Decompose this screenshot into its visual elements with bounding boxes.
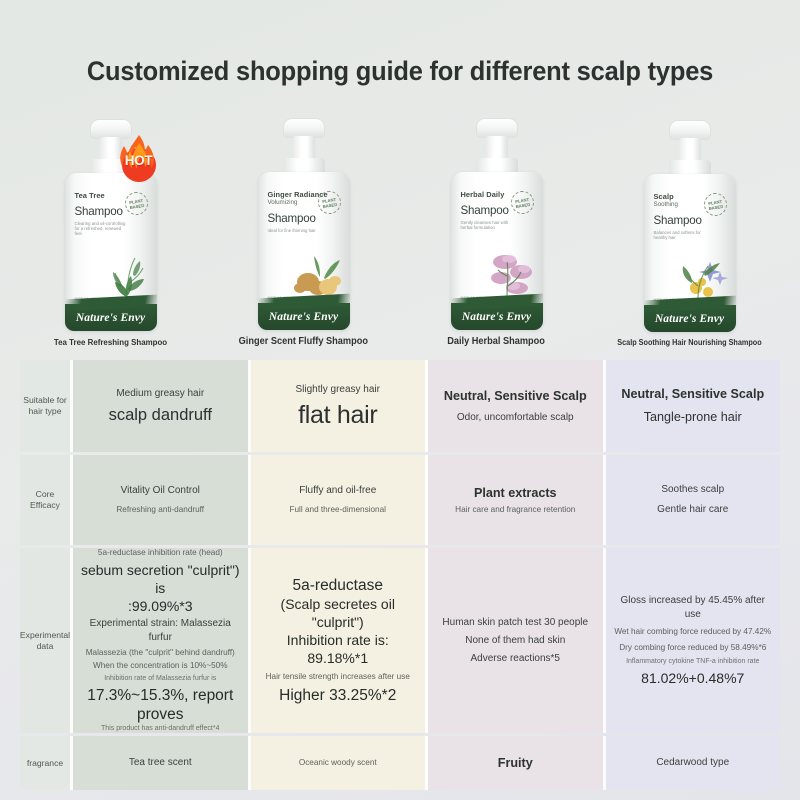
bottle-image-herbal: Herbal Daily Shampoo Gently cleanses hai… — [449, 118, 545, 330]
pump-head-icon — [476, 118, 518, 138]
cell-secondary: Gentle hair care — [657, 503, 728, 517]
cell-hair-type-col1: Medium greasy hair scalp dandruff — [73, 360, 251, 452]
cell-core-efficacy-col3: Plant extracts Hair care and fragrance r… — [428, 455, 606, 545]
bottle-brand-band: Nature's Envy — [65, 304, 157, 331]
exp-line: (Scalp secretes oil "culprit") — [258, 595, 419, 631]
bottle-tagline: Ideal for fine thinning hair — [268, 228, 320, 233]
exp-line: Dry combing force reduced by 58.49%*6 — [619, 642, 766, 654]
cell-primary: Fluffy and oil-free — [299, 484, 376, 498]
product-caption-tea-tree: Tea Tree Refreshing Shampoo — [54, 337, 167, 347]
exp-line: Adverse reactions*5 — [471, 652, 561, 666]
chamomile-flower-illustration-icon — [676, 244, 732, 302]
cell-secondary: Tangle-prone hair — [644, 409, 742, 426]
product-card-tea-tree[interactable]: Tea Tree Shampoo Clearing and oil-contro… — [14, 99, 207, 347]
cell-primary: Neutral, Sensitive Scalp — [444, 388, 587, 405]
table-row-core-efficacy: Core Efficacy Vitality Oil Control Refre… — [20, 455, 780, 548]
cell-primary: Cedarwood type — [656, 756, 729, 770]
row-label-core-efficacy: Core Efficacy — [20, 455, 73, 545]
product-card-herbal[interactable]: Herbal Daily Shampoo Gently cleanses hai… — [400, 99, 593, 347]
bottle-body: Scalp Soothing Shampoo Balances and soft… — [644, 174, 736, 332]
exp-line: Inhibition rate is: 89.18%*1 — [258, 631, 419, 667]
product-gallery: Tea Tree Shampoo Clearing and oil-contro… — [0, 99, 800, 347]
exp-line: 81.02%+0.48%7 — [641, 669, 744, 687]
bottle-body: Ginger Radiance Volumizing Shampoo Ideal… — [258, 172, 350, 330]
bottle-brand-band: Nature's Envy — [644, 305, 736, 332]
exp-line: Inflammatory cytokine TNF-a inhibition r… — [626, 657, 759, 667]
cell-primary: Oceanic woody scent — [299, 757, 377, 769]
pump-head-icon — [669, 120, 711, 140]
cell-fragrance-col4: Cedarwood type — [606, 736, 781, 790]
exp-line: When the concentration is 10%~50% — [93, 660, 228, 672]
cell-fragrance-col3: Fruity — [428, 736, 606, 790]
product-caption-ginger: Ginger Scent Fluffy Shampoo — [239, 336, 368, 347]
product-caption-scalp-soothing: Scalp Soothing Hair Nourishing Shampoo — [617, 338, 761, 347]
row-label-fragrance: fragrance — [20, 736, 73, 790]
page-title: Customized shopping guide for different … — [16, 0, 784, 87]
cell-fragrance-col2: Oceanic woody scent — [251, 736, 429, 790]
product-card-scalp-soothing[interactable]: Scalp Soothing Shampoo Balances and soft… — [593, 99, 786, 347]
exp-line: Malassezia (the "culprit" behind dandruf… — [86, 647, 235, 659]
bottle-tagline: Balances and softens for healthy hair — [654, 230, 706, 241]
exp-line: Wet hair combing force reduced by 47.42% — [614, 626, 771, 638]
bottle-body: Tea Tree Shampoo Clearing and oil-contro… — [65, 173, 157, 331]
brand-name: Nature's Envy — [269, 311, 338, 323]
product-card-ginger[interactable]: Ginger Radiance Volumizing Shampoo Ideal… — [207, 99, 400, 347]
comparison-table: Suitable for hair type Medium greasy hai… — [20, 360, 780, 785]
table-row-fragrance: fragrance Tea tree scent Oceanic woody s… — [20, 736, 780, 793]
bottle-tagline: Gently cleanses hair with herbal formula… — [461, 220, 513, 231]
bottle-image-scalp-soothing: Scalp Soothing Shampoo Balances and soft… — [642, 120, 738, 332]
bottle-brand-band: Nature's Envy — [258, 303, 350, 330]
table-row-experimental-data: Experimental data 5a-reductase inhibitio… — [20, 548, 780, 736]
cell-hair-type-col3: Neutral, Sensitive Scalp Odor, uncomfort… — [428, 360, 606, 452]
exp-line: Human skin patch test 30 people — [442, 616, 588, 630]
cell-experimental-col3: Human skin patch test 30 people None of … — [428, 548, 606, 733]
exp-line: 5a-reductase — [293, 576, 383, 595]
exp-line: Inhibition rate of Malassezia furfur is — [104, 674, 216, 684]
herbal-flower-illustration-icon — [483, 242, 539, 300]
cell-secondary: Full and three-dimensional — [290, 504, 386, 516]
cell-primary: Fruity — [498, 755, 533, 772]
cell-primary: Vitality Oil Control — [121, 484, 200, 498]
cell-experimental-col4: Gloss increased by 45.45% after use Wet … — [606, 548, 781, 733]
brand-name: Nature's Envy — [655, 313, 724, 325]
cell-experimental-col1: 5a-reductase inhibition rate (head) sebu… — [73, 548, 251, 733]
cell-hair-type-col4: Neutral, Sensitive Scalp Tangle-prone ha… — [606, 360, 781, 452]
cell-primary: Slightly greasy hair — [296, 383, 380, 397]
cell-fragrance-col1: Tea tree scent — [73, 736, 251, 790]
exp-line: 5a-reductase inhibition rate (head) — [98, 547, 223, 559]
cell-secondary: scalp dandruff — [109, 405, 212, 426]
hot-badge-label: HOT — [115, 153, 163, 168]
cell-primary: Medium greasy hair — [116, 387, 204, 401]
exp-line: :99.09%*3 — [128, 597, 193, 615]
cell-secondary: Hair care and fragrance retention — [455, 504, 575, 516]
cell-hair-type-col2: Slightly greasy hair flat hair — [251, 360, 429, 452]
bottle-brand-band: Nature's Envy — [451, 303, 543, 330]
exp-line: None of them had skin — [465, 634, 565, 648]
exp-line: This product has anti-dandruff effect*4 — [101, 724, 219, 734]
brand-name: Nature's Envy — [462, 311, 531, 323]
exp-line: Gloss increased by 45.45% after use — [613, 594, 774, 622]
exp-line: 17.3%~15.3%, report proves — [80, 686, 241, 724]
ginger-root-illustration-icon — [290, 242, 346, 300]
product-caption-herbal: Daily Herbal Shampoo — [448, 336, 546, 347]
cell-primary: Tea tree scent — [129, 756, 192, 770]
cell-experimental-col2: 5a-reductase (Scalp secretes oil "culpri… — [251, 548, 429, 733]
bottle-body: Herbal Daily Shampoo Gently cleanses hai… — [451, 172, 543, 330]
tea-tree-leaf-illustration-icon — [97, 243, 153, 301]
cell-primary: Plant extracts — [474, 485, 557, 502]
pump-head-icon — [283, 118, 325, 138]
cell-core-efficacy-col2: Fluffy and oil-free Full and three-dimen… — [251, 455, 429, 545]
exp-line: sebum secretion "culprit") is — [80, 561, 241, 597]
cell-secondary: Odor, uncomfortable scalp — [457, 411, 574, 425]
table-row-hair-type: Suitable for hair type Medium greasy hai… — [20, 360, 780, 455]
bottle-image-tea-tree: Tea Tree Shampoo Clearing and oil-contro… — [63, 119, 159, 331]
row-label-experimental-data: Experimental data — [20, 548, 73, 733]
hot-badge: HOT — [115, 133, 163, 185]
cell-primary: Neutral, Sensitive Scalp — [621, 386, 764, 403]
exp-line: Hair tensile strength increases after us… — [266, 671, 410, 683]
exp-line: Experimental strain: Malassezia furfur — [80, 617, 241, 645]
cell-primary: Soothes scalp — [661, 483, 724, 497]
cell-core-efficacy-col4: Soothes scalp Gentle hair care — [606, 455, 781, 545]
bottle-image-ginger: Ginger Radiance Volumizing Shampoo Ideal… — [256, 118, 352, 330]
cell-core-efficacy-col1: Vitality Oil Control Refreshing anti-dan… — [73, 455, 251, 545]
cell-secondary: flat hair — [298, 401, 377, 430]
brand-name: Nature's Envy — [76, 312, 145, 324]
exp-line: Higher 33.25%*2 — [279, 686, 396, 705]
row-label-hair-type: Suitable for hair type — [20, 360, 73, 452]
bottle-tagline: Clearing and oil-controlling for a refre… — [75, 221, 127, 237]
cell-secondary: Refreshing anti-dandruff — [116, 504, 204, 516]
